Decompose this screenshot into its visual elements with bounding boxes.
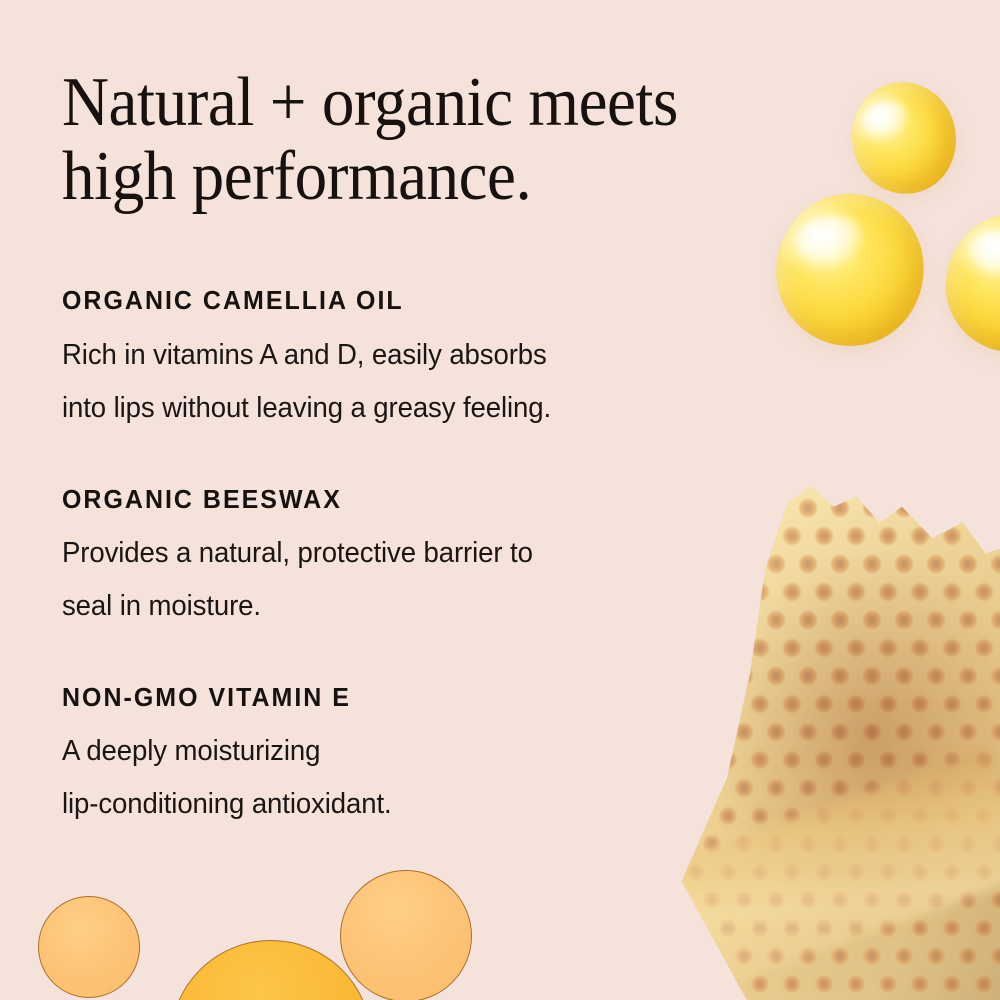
- oil-droplet-icon: [766, 184, 934, 355]
- benefit-title: ORGANIC CAMELLIA OIL: [62, 286, 715, 315]
- benefit-description: Provides a natural, protective barrier t…: [62, 527, 708, 633]
- ingredient-benefits-poster: Natural + organic meets high performance…: [0, 0, 1000, 1000]
- benefit-list: ORGANIC CAMELLIA OIL Rich in vitamins A …: [62, 286, 742, 830]
- benefit-item-camellia-oil: ORGANIC CAMELLIA OIL Rich in vitamins A …: [62, 286, 742, 434]
- benefit-title: NON-GMO VITAMIN E: [62, 683, 715, 712]
- oil-droplet-icon: [939, 207, 1000, 358]
- oil-droplet-icon: [837, 69, 971, 208]
- benefit-item-vitamin-e: NON-GMO VITAMIN E A deeply moisturizing …: [62, 683, 742, 831]
- benefit-description: Rich in vitamins A and D, easily absorbs…: [62, 329, 708, 435]
- honey-circle-icon: [38, 896, 140, 998]
- page-title: Natural + organic meets high performance…: [62, 0, 694, 214]
- benefit-item-beeswax: ORGANIC BEESWAX Provides a natural, prot…: [62, 485, 742, 633]
- honey-circle-icon: [170, 940, 372, 1000]
- content-column: Natural + organic meets high performance…: [62, 0, 742, 831]
- benefit-description: A deeply moisturizing lip-conditioning a…: [62, 725, 708, 831]
- honey-circle-icon: [340, 870, 472, 1000]
- benefit-title: ORGANIC BEESWAX: [62, 485, 715, 514]
